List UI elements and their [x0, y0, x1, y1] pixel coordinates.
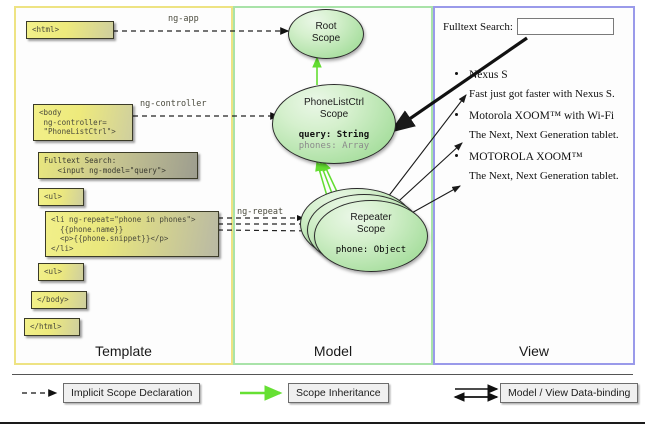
- code-body-close[interactable]: </body>: [31, 291, 87, 309]
- scope-root-title1: Root: [289, 21, 363, 33]
- code-fulltext-search[interactable]: Fulltext Search: <input ng-model="query"…: [38, 152, 198, 179]
- scope-ctrl-prop-phones: phones: Array: [273, 141, 395, 152]
- scope-ctrl-title1: PhoneListCtrl: [273, 97, 395, 109]
- diagram-stage: Template Model View: [0, 0, 645, 425]
- scope-ctrl-title2: Scope: [273, 109, 395, 121]
- label-ng-repeat: ng-repeat: [237, 207, 283, 217]
- code-ul-close[interactable]: <ul>: [38, 263, 84, 281]
- scope-repeater[interactable]: Repeater Scope phone: Object: [314, 200, 428, 272]
- scope-root-title2: Scope: [289, 33, 363, 45]
- label-ng-app: ng-app: [168, 14, 199, 24]
- code-ul-open[interactable]: <ul>: [38, 188, 84, 206]
- scope-repeater-title1: Repeater: [315, 212, 427, 224]
- scope-repeater-title2: Scope: [315, 224, 427, 236]
- scope-phonelistctrl[interactable]: PhoneListCtrl Scope query: String phones…: [272, 84, 396, 164]
- code-html-open[interactable]: <html>: [26, 21, 114, 39]
- code-body-open[interactable]: <body ng-controller= "PhoneListCtrl">: [33, 104, 133, 141]
- scope-root[interactable]: Root Scope: [288, 9, 364, 59]
- code-li-ng-repeat[interactable]: <li ng-repeat="phone in phones"> {{phone…: [45, 211, 219, 257]
- label-ng-controller: ng-controller: [140, 99, 207, 109]
- edge-databinding-query: [392, 38, 527, 131]
- code-html-close[interactable]: </html>: [24, 318, 80, 336]
- scope-repeater-prop-phone: phone: Object: [315, 245, 427, 256]
- scope-ctrl-prop-query: query: String: [273, 130, 395, 141]
